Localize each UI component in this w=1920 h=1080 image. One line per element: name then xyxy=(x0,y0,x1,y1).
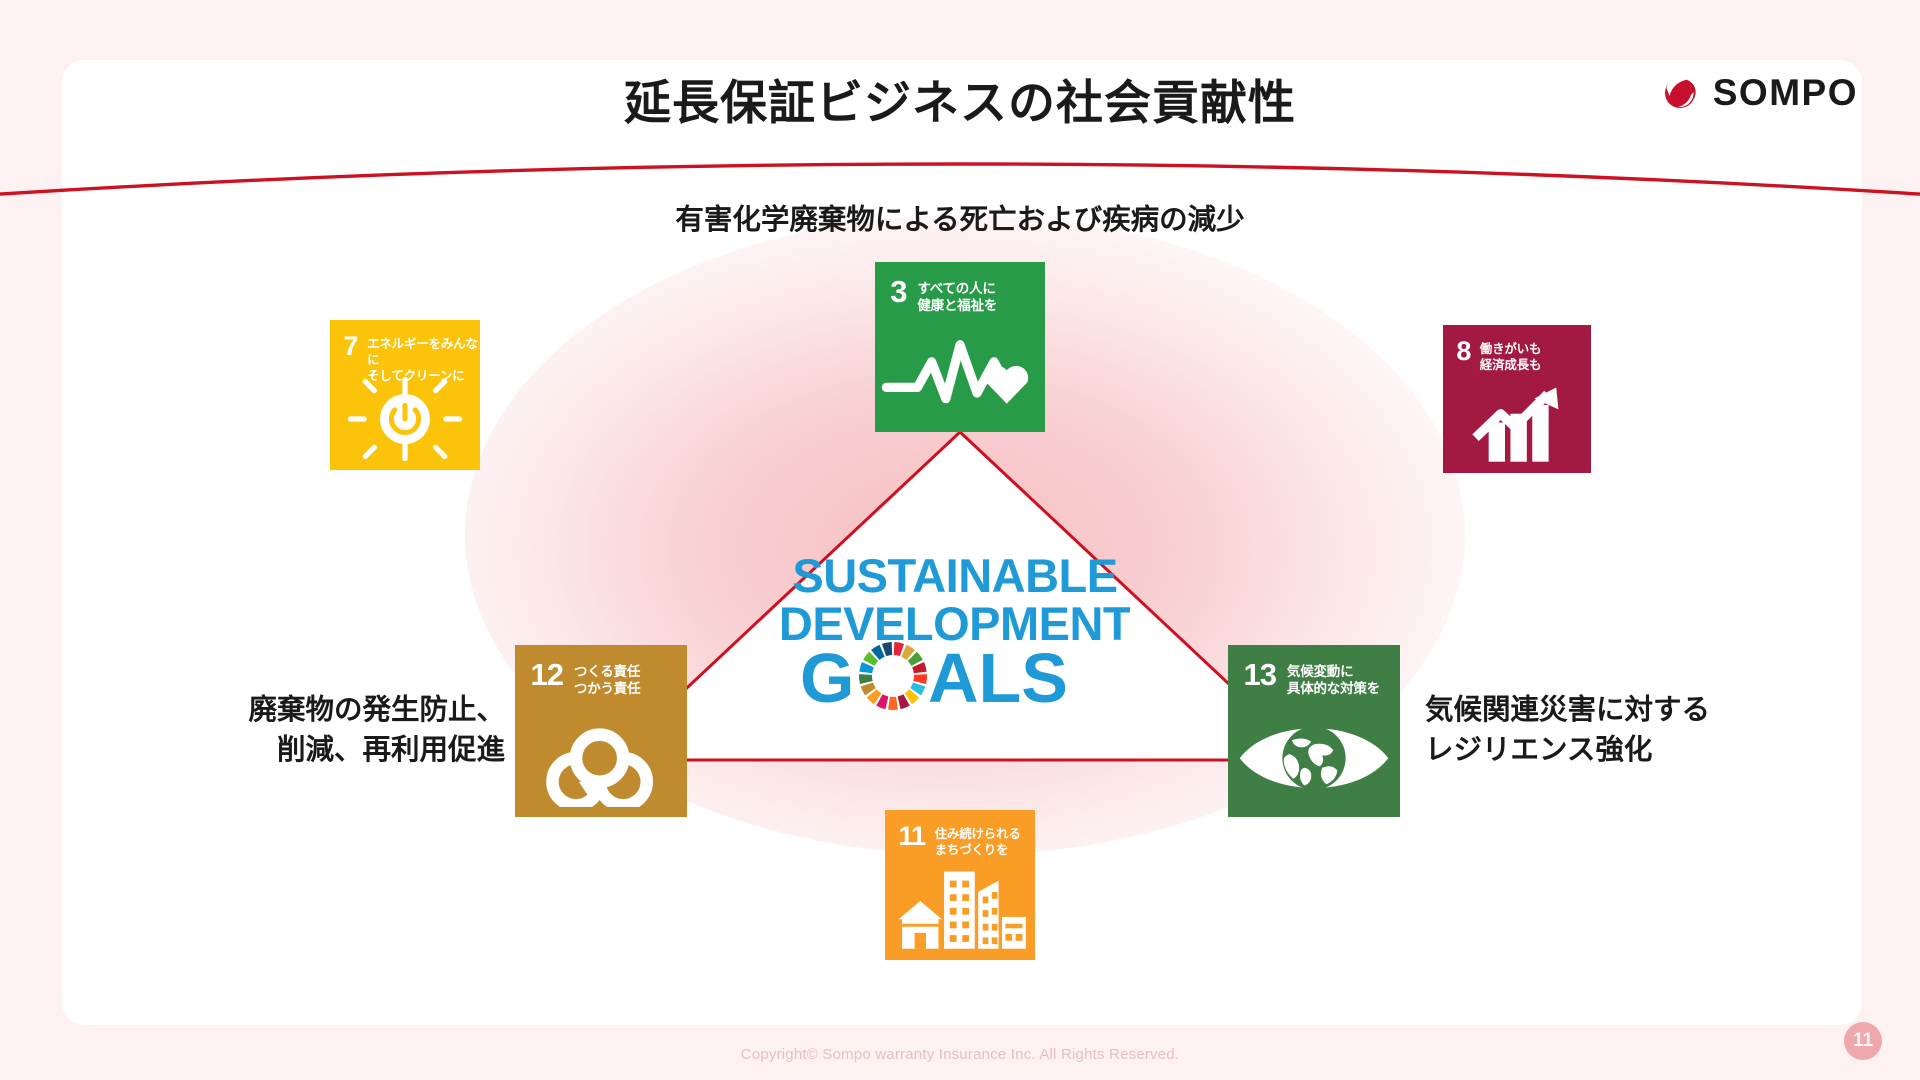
goal-8-number: 8 xyxy=(1456,340,1470,363)
growth-chart-icon xyxy=(1443,381,1591,464)
page-number-badge: 11 xyxy=(1844,1022,1882,1060)
sdg-line-3-pre: G xyxy=(800,639,854,716)
goal-3-header: 3 すべての人に 健康と福祉を xyxy=(875,262,1045,315)
caption-left: 廃棄物の発生防止、 削減、再利用促進 xyxy=(185,690,505,771)
copyright-footer: Copyright© Sompo warranty Insurance Inc.… xyxy=(0,1046,1920,1063)
goal-8-header: 8 働きがいも 経済成長も xyxy=(1443,325,1591,373)
page-title: 延長保証ビジネスの社会貢献性 xyxy=(0,64,1920,133)
cityscape-icon xyxy=(885,867,1035,951)
sompo-sphere-icon xyxy=(1660,72,1700,112)
brand-name: SOMPO xyxy=(1713,74,1858,111)
goal-13-header: 13 気候変動に 具体的な対策を xyxy=(1228,645,1400,698)
sdg-goal-12-tile[interactable]: 12 つくる責任 つかう責任 xyxy=(515,645,687,817)
goal-7-number: 7 xyxy=(344,335,358,358)
goal-11-header: 11 住み続けられる まちづくりを xyxy=(885,810,1035,858)
goal-7-header: 7 エネルギーをみんなに そしてクリーンに xyxy=(330,320,480,384)
goal-12-header: 12 つくる責任 つかう責任 xyxy=(515,645,687,698)
caption-right: 気候関連災害に対する レジリエンス強化 xyxy=(1425,690,1805,771)
eye-globe-icon xyxy=(1228,710,1400,806)
slide-canvas: 延長保証ビジネスの社会貢献性 SOMPO 有害化学廃棄物による死亡および疾病の減… xyxy=(0,0,1920,1080)
sdg-goal-8-tile[interactable]: 8 働きがいも 経済成長も xyxy=(1443,325,1591,473)
sdg-line-1: SUSTAINABLE xyxy=(792,549,1117,602)
sdg-logo: SUSTAINABLE DEVELOPMENT G ALS xyxy=(780,548,1130,716)
goal-3-number: 3 xyxy=(890,279,906,305)
goal-12-number: 12 xyxy=(530,662,562,688)
goal-13-number: 13 xyxy=(1243,662,1275,688)
sdg-goal-13-tile[interactable]: 13 気候変動に 具体的な対策を xyxy=(1228,645,1400,817)
goal-8-label: 働きがいも 経済成長も xyxy=(1480,340,1542,373)
sdg-wheel-segment xyxy=(888,697,898,710)
sdg-goal-7-tile[interactable]: 7 エネルギーをみんなに そしてクリーンに xyxy=(330,320,480,470)
infinity-loop-icon xyxy=(515,710,687,806)
sdg-line-3-post: ALS xyxy=(928,639,1068,716)
goal-11-number: 11 xyxy=(899,825,926,848)
sun-power-icon xyxy=(330,377,480,461)
sdg-wheel-segment xyxy=(913,674,927,684)
brand-logo: SOMPO xyxy=(1660,72,1858,112)
goal-11-label: 住み続けられる まちづくりを xyxy=(935,825,1021,858)
sdg-wheel-segment xyxy=(859,674,873,684)
heartbeat-icon xyxy=(875,327,1045,422)
goal-12-label: つくる責任 つかう責任 xyxy=(574,662,641,698)
sdg-color-wheel xyxy=(859,642,927,710)
caption-top: 有害化学廃棄物による死亡および疾病の減少 xyxy=(0,200,1920,240)
goal-3-label: すべての人に 健康と福祉を xyxy=(917,279,997,315)
goal-13-label: 気候変動に 具体的な対策を xyxy=(1287,662,1380,698)
sdg-goal-3-tile[interactable]: 3 すべての人に 健康と福祉を xyxy=(875,262,1045,432)
sdg-goal-11-tile[interactable]: 11 住み続けられる まちづくりを xyxy=(885,810,1035,960)
